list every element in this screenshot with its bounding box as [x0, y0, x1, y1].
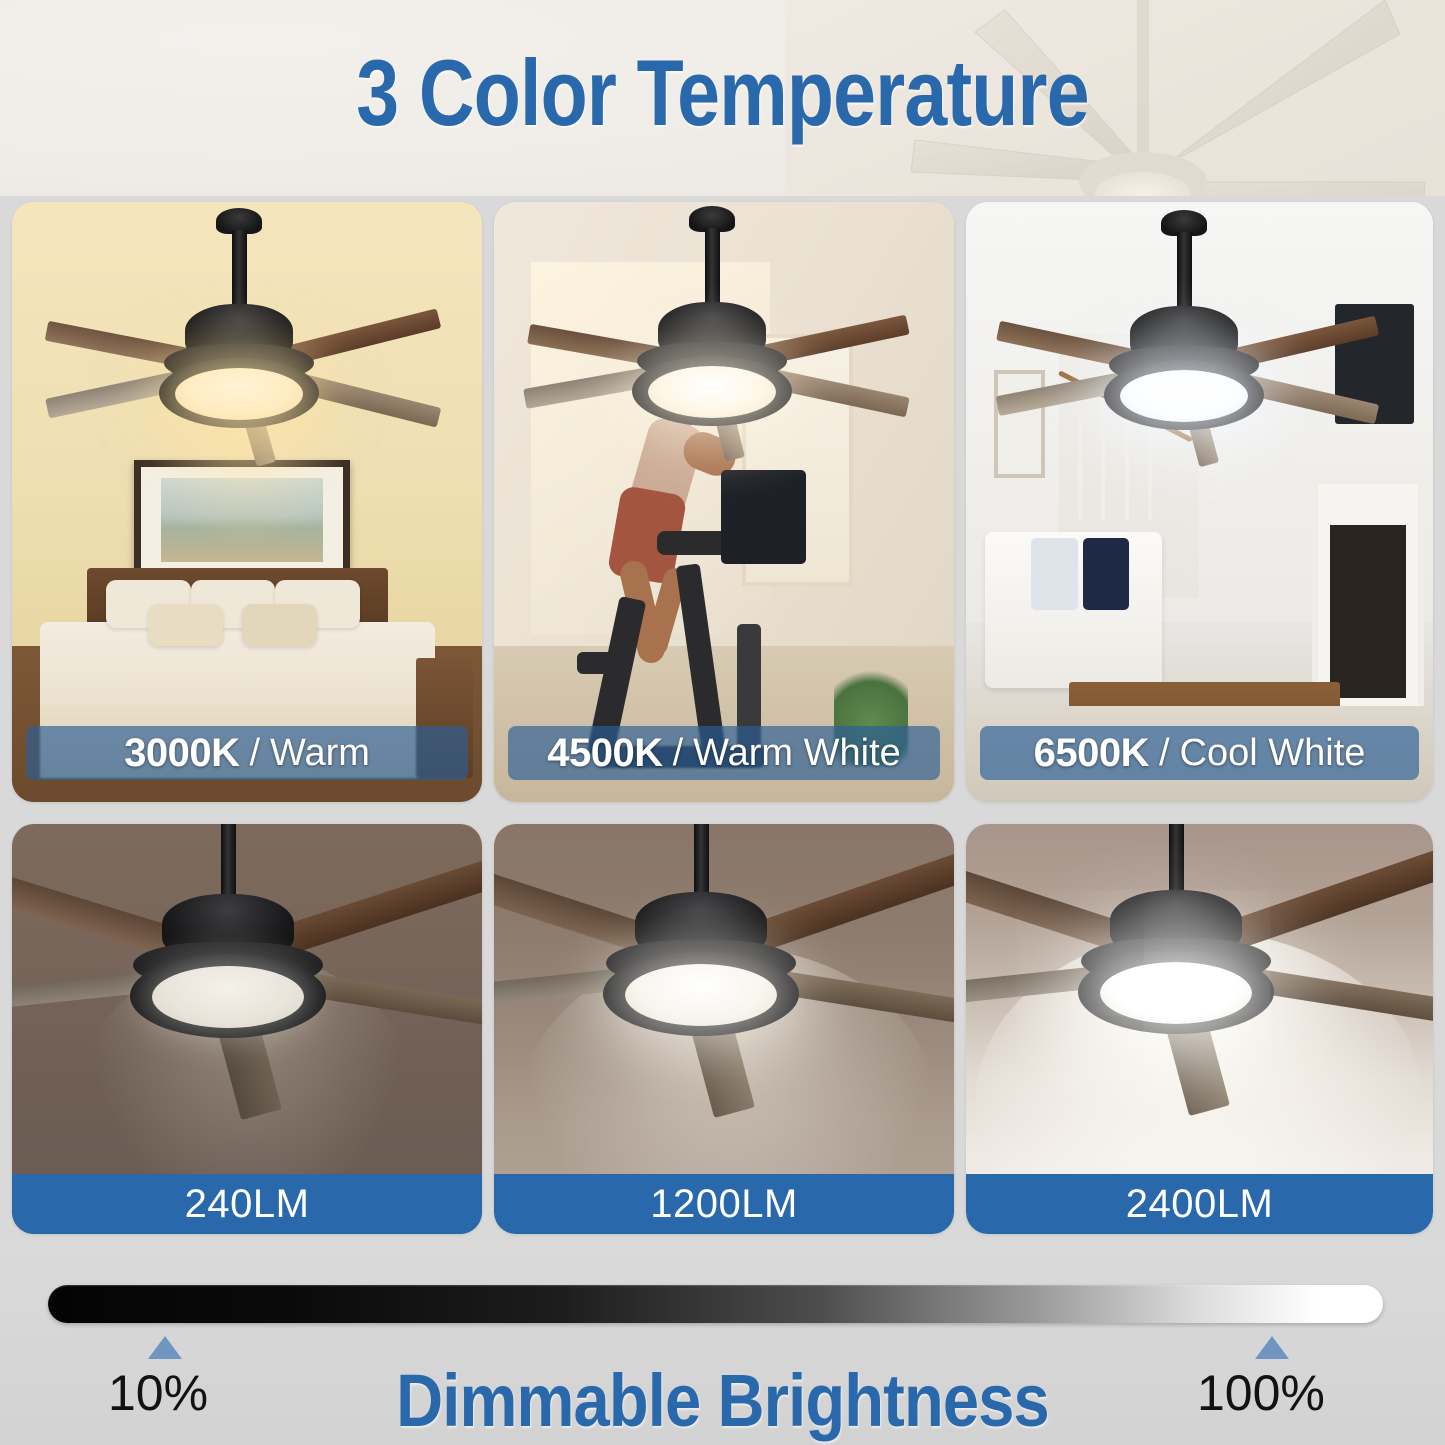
kelvin-name: Warm	[270, 732, 370, 775]
card-2400lm[interactable]: 2400LM	[966, 824, 1433, 1234]
color-temperature-row: 3000K / Warm	[0, 196, 1445, 810]
lumen-row: 240LM 1200L	[0, 820, 1445, 1240]
card-3000k[interactable]: 3000K / Warm	[12, 202, 482, 802]
fan-closeup-mid	[494, 824, 954, 1234]
card-6500k[interactable]: 6500K / Cool White	[966, 202, 1433, 802]
brightness-max-marker-icon	[1255, 1336, 1289, 1359]
kelvin-name: Warm White	[693, 732, 901, 775]
fan-closeup-dim	[12, 824, 482, 1234]
kelvin-value: 6500K	[1034, 731, 1149, 776]
label-6500k: 6500K / Cool White	[980, 726, 1419, 780]
wall-art	[134, 460, 350, 580]
lumen-bar-1200: 1200LM	[494, 1174, 954, 1234]
lumen-value: 2400LM	[1126, 1182, 1274, 1227]
fan-closeup-bright	[966, 824, 1433, 1234]
card-240lm[interactable]: 240LM	[12, 824, 482, 1234]
infographic-page: 3 Color Temperature	[0, 0, 1445, 1445]
header-banner: 3 Color Temperature	[0, 0, 1445, 196]
brightness-min-marker-icon	[148, 1336, 182, 1359]
kelvin-value: 4500K	[547, 731, 662, 776]
lumen-bar-2400: 2400LM	[966, 1174, 1433, 1234]
label-separator: /	[673, 732, 684, 775]
page-title: 3 Color Temperature	[130, 46, 1315, 140]
tv-screen	[1335, 304, 1414, 424]
card-4500k[interactable]: 4500K / Warm White	[494, 202, 954, 802]
home-gym-scene	[494, 202, 954, 802]
kelvin-value: 3000K	[124, 731, 239, 776]
brightness-slider[interactable]	[48, 1285, 1383, 1323]
card-1200lm[interactable]: 1200LM	[494, 824, 954, 1234]
brightness-title: Dimmable Brightness	[87, 1358, 1359, 1443]
lumen-value: 1200LM	[650, 1182, 798, 1227]
living-room-scene	[966, 202, 1433, 802]
dimmable-brightness-section: 10% 100% Dimmable Brightness	[0, 1240, 1445, 1445]
label-4500k: 4500K / Warm White	[508, 726, 940, 780]
kelvin-name: Cool White	[1180, 732, 1366, 775]
label-3000k: 3000K / Warm	[26, 726, 468, 780]
lumen-value: 240LM	[185, 1182, 310, 1227]
wall-art	[994, 370, 1045, 478]
lumen-bar-240: 240LM	[12, 1174, 482, 1234]
bedroom-scene	[12, 202, 482, 802]
label-separator: /	[1159, 732, 1170, 775]
label-separator: /	[249, 732, 260, 775]
